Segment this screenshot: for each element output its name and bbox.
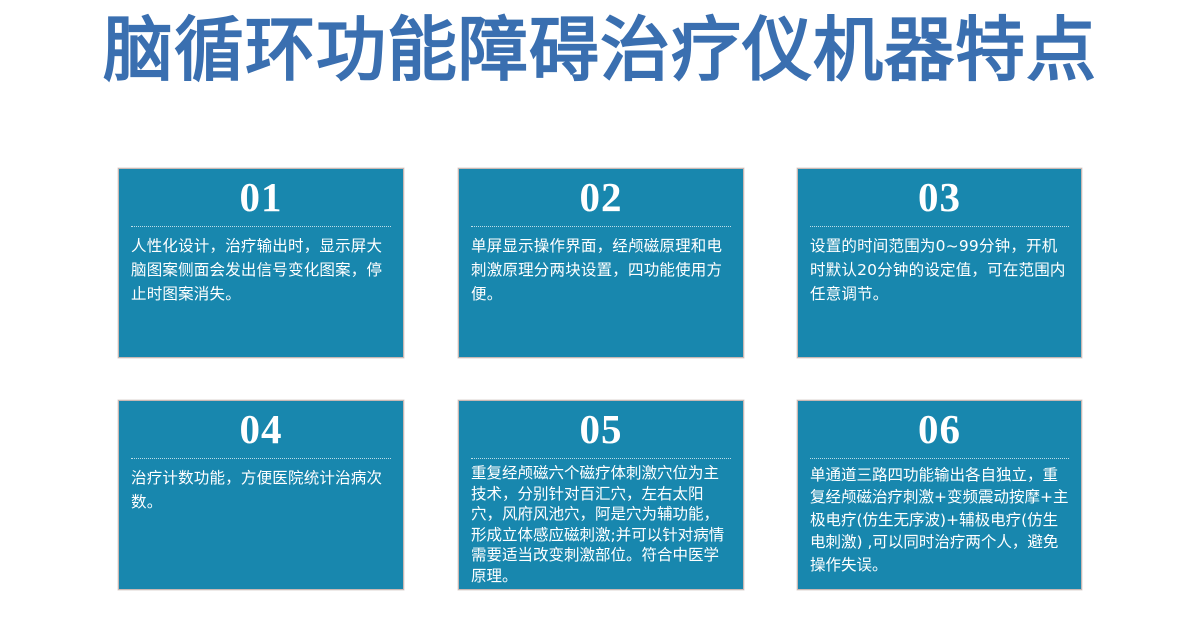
card-number-05: 05: [459, 401, 743, 453]
feature-card-06[interactable]: 06 单通道三路四功能输出各自独立，重复经颅磁治疗刺激+变频震动按摩+主极电疗(…: [797, 400, 1082, 590]
feature-card-05[interactable]: 05 重复经颅磁六个磁疗体刺激穴位为主技术，分别针对百汇穴，左右太阳穴，风府风池…: [458, 400, 744, 590]
card-number-06: 06: [798, 401, 1081, 453]
card-body-01: 人性化设计，治疗输出时，显示屏大脑图案侧面会发出信号变化图案，停止时图案消失。: [119, 227, 403, 306]
card-body-05: 重复经颅磁六个磁疗体刺激穴位为主技术，分别针对百汇穴，左右太阳穴，风府风池穴，阿…: [459, 459, 743, 587]
feature-card-03[interactable]: 03 设置的时间范围为0~99分钟，开机时默认20分钟的设定值，可在范围内任意调…: [797, 168, 1082, 358]
card-number-03: 03: [798, 169, 1081, 221]
card-number-02: 02: [459, 169, 743, 221]
feature-card-04[interactable]: 04 治疗计数功能，方便医院统计治病次数。: [118, 400, 404, 590]
feature-card-02[interactable]: 02 单屏显示操作界面，经颅磁原理和电刺激原理分两块设置，四功能使用方便。: [458, 168, 744, 358]
card-number-01: 01: [119, 169, 403, 221]
feature-card-01[interactable]: 01 人性化设计，治疗输出时，显示屏大脑图案侧面会发出信号变化图案，停止时图案消…: [118, 168, 404, 358]
card-body-06: 单通道三路四功能输出各自独立，重复经颅磁治疗刺激+变频震动按摩+主极电疗(仿生无…: [798, 459, 1081, 576]
card-number-04: 04: [119, 401, 403, 453]
page-title: 脑循环功能障碍治疗仪机器特点: [0, 4, 1200, 96]
feature-card-grid: 01 人性化设计，治疗输出时，显示屏大脑图案侧面会发出信号变化图案，停止时图案消…: [118, 168, 1082, 590]
card-body-03: 设置的时间范围为0~99分钟，开机时默认20分钟的设定值，可在范围内任意调节。: [798, 227, 1081, 306]
card-body-04: 治疗计数功能，方便医院统计治病次数。: [119, 459, 403, 514]
card-body-02: 单屏显示操作界面，经颅磁原理和电刺激原理分两块设置，四功能使用方便。: [459, 227, 743, 306]
